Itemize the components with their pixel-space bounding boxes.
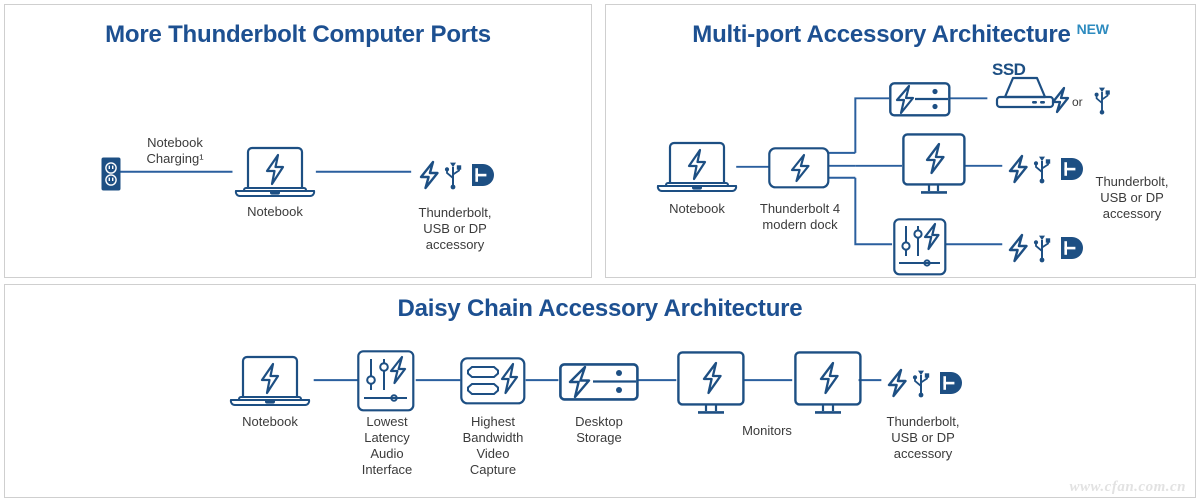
displayport-icon bbox=[940, 372, 962, 394]
watermark: www.cfan.com.cn bbox=[1069, 479, 1186, 496]
usb-icon bbox=[445, 163, 461, 190]
usb-icon bbox=[1092, 85, 1112, 115]
monitor-icon bbox=[794, 351, 862, 417]
caption-monitors: Monitors bbox=[717, 423, 817, 439]
usb-icon bbox=[1034, 236, 1050, 263]
accessory-icons-group bbox=[417, 160, 495, 190]
caption-accessory-multiport: Thunderbolt, USB or DP accessory bbox=[1074, 174, 1190, 222]
panel-title-daisy: Daisy Chain Accessory Architecture bbox=[5, 295, 1195, 323]
panel-multiport-accessory: Multi-port Accessory ArchitectureNEW bbox=[605, 4, 1196, 278]
notebook-icon bbox=[232, 144, 318, 198]
caption-accessory-daisy: Thunderbolt, USB or DP accessory bbox=[863, 414, 983, 462]
notebook-icon bbox=[654, 139, 740, 193]
panel-title-multiport-text: Multi-port Accessory Architecture bbox=[692, 21, 1070, 49]
caption-chain-2: Highest Bandwidth Video Capture bbox=[443, 414, 543, 478]
diagram-root: More Thunderbolt Computer Ports Notebook… bbox=[0, 0, 1200, 502]
video-capture-icon bbox=[460, 357, 526, 405]
ssd-endpoint-icons bbox=[1050, 87, 1072, 113]
usb-icon bbox=[913, 371, 929, 398]
audio-interface-icon bbox=[893, 218, 947, 276]
panel-daisy-chain: Daisy Chain Accessory Architecture Noteb… bbox=[4, 284, 1196, 498]
thunderbolt-icon bbox=[421, 162, 438, 188]
monitor-icon bbox=[677, 351, 745, 417]
monitor-icon bbox=[902, 133, 966, 197]
thunderbolt-icon bbox=[1010, 156, 1027, 182]
new-badge: NEW bbox=[1077, 21, 1109, 37]
desktop-storage-icon bbox=[889, 82, 951, 117]
caption-chain-3: Desktop Storage bbox=[557, 414, 641, 446]
accessory-icons-group bbox=[1006, 154, 1084, 184]
panel-more-thunderbolt-ports: More Thunderbolt Computer Ports Notebook… bbox=[4, 4, 592, 278]
caption-notebook: Notebook bbox=[642, 201, 752, 217]
caption-dock: Thunderbolt 4 modern dock bbox=[744, 201, 856, 233]
notebook-icon bbox=[227, 353, 313, 407]
dock-icon bbox=[768, 147, 830, 189]
desktop-storage-icon bbox=[559, 363, 639, 401]
audio-interface-icon bbox=[357, 350, 415, 412]
ssd-label: SSD bbox=[992, 60, 1025, 80]
thunderbolt-icon bbox=[1050, 87, 1072, 113]
accessory-icons-group bbox=[1006, 233, 1084, 263]
or-label: or bbox=[1072, 95, 1083, 109]
usb-icon bbox=[1034, 157, 1050, 184]
caption-accessory-ports: Thunderbolt, USB or DP accessory bbox=[395, 205, 515, 253]
notebook-charging-label: Notebook Charging¹ bbox=[129, 135, 221, 167]
thunderbolt-icon bbox=[1010, 235, 1027, 261]
accessory-icons-group bbox=[885, 368, 963, 398]
displayport-icon bbox=[472, 164, 494, 186]
caption-chain-0: Notebook bbox=[217, 414, 323, 430]
ssd-text: SSD bbox=[992, 60, 1025, 79]
displayport-icon bbox=[1061, 237, 1083, 259]
caption-chain-1: Lowest Latency Audio Interface bbox=[340, 414, 434, 478]
panel-title-multiport: Multi-port Accessory ArchitectureNEW bbox=[606, 21, 1195, 49]
panel-title-ports: More Thunderbolt Computer Ports bbox=[5, 21, 591, 49]
outlet-icon bbox=[101, 157, 121, 191]
thunderbolt-icon bbox=[889, 370, 906, 396]
caption-notebook: Notebook bbox=[220, 204, 330, 220]
